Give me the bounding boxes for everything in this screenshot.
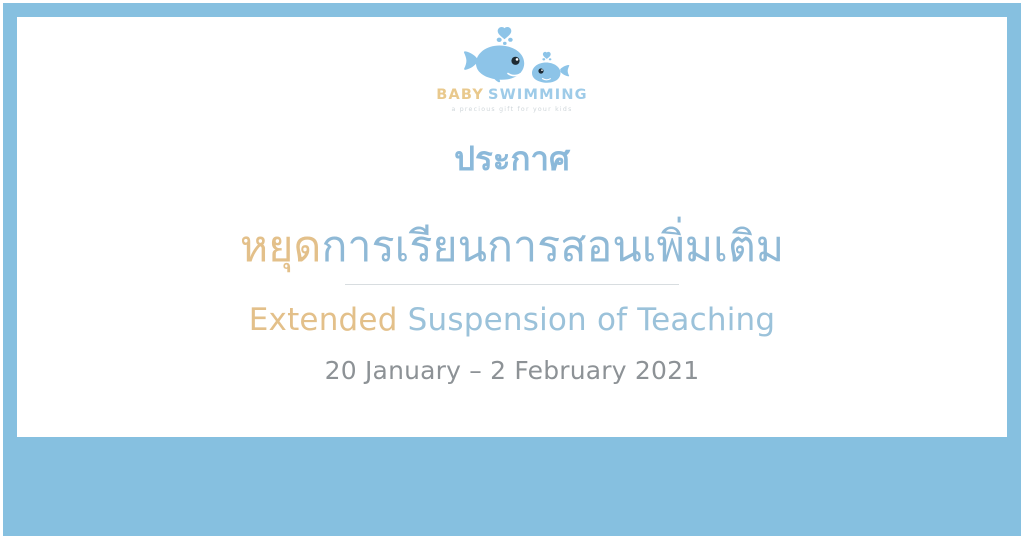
- english-headline: Extended Suspension of Teaching: [249, 303, 776, 339]
- headline-divider: [345, 284, 679, 285]
- logo-word-primary: BABY: [436, 87, 484, 103]
- english-headline-rest: Suspension of Teaching: [408, 302, 776, 338]
- logo-tagline: a precious gift for your kids: [451, 106, 572, 113]
- poster-content: BABYSWIMMING a precious gift for your ki…: [17, 17, 1007, 437]
- logo-wordmark: BABYSWIMMING: [436, 88, 588, 103]
- bottom-blue-band: [3, 437, 1021, 536]
- thai-headline: หยุดการเรียนการสอนเพิ่มเติม: [240, 223, 784, 272]
- whale-logo-icon: [446, 25, 578, 87]
- announcement-label: ประกาศ: [454, 141, 570, 177]
- english-headline-accent: Extended: [249, 302, 398, 338]
- date-range: 20 January – 2 February 2021: [325, 357, 700, 386]
- brand-logo: BABYSWIMMING a precious gift for your ki…: [427, 25, 597, 113]
- logo-word-secondary: SWIMMING: [488, 87, 588, 103]
- thai-headline-rest: การเรียนการสอนเพิ่มเติม: [321, 222, 784, 272]
- thai-headline-accent: หยุด: [240, 222, 321, 272]
- announcement-poster: BABYSWIMMING a precious gift for your ki…: [0, 0, 1024, 536]
